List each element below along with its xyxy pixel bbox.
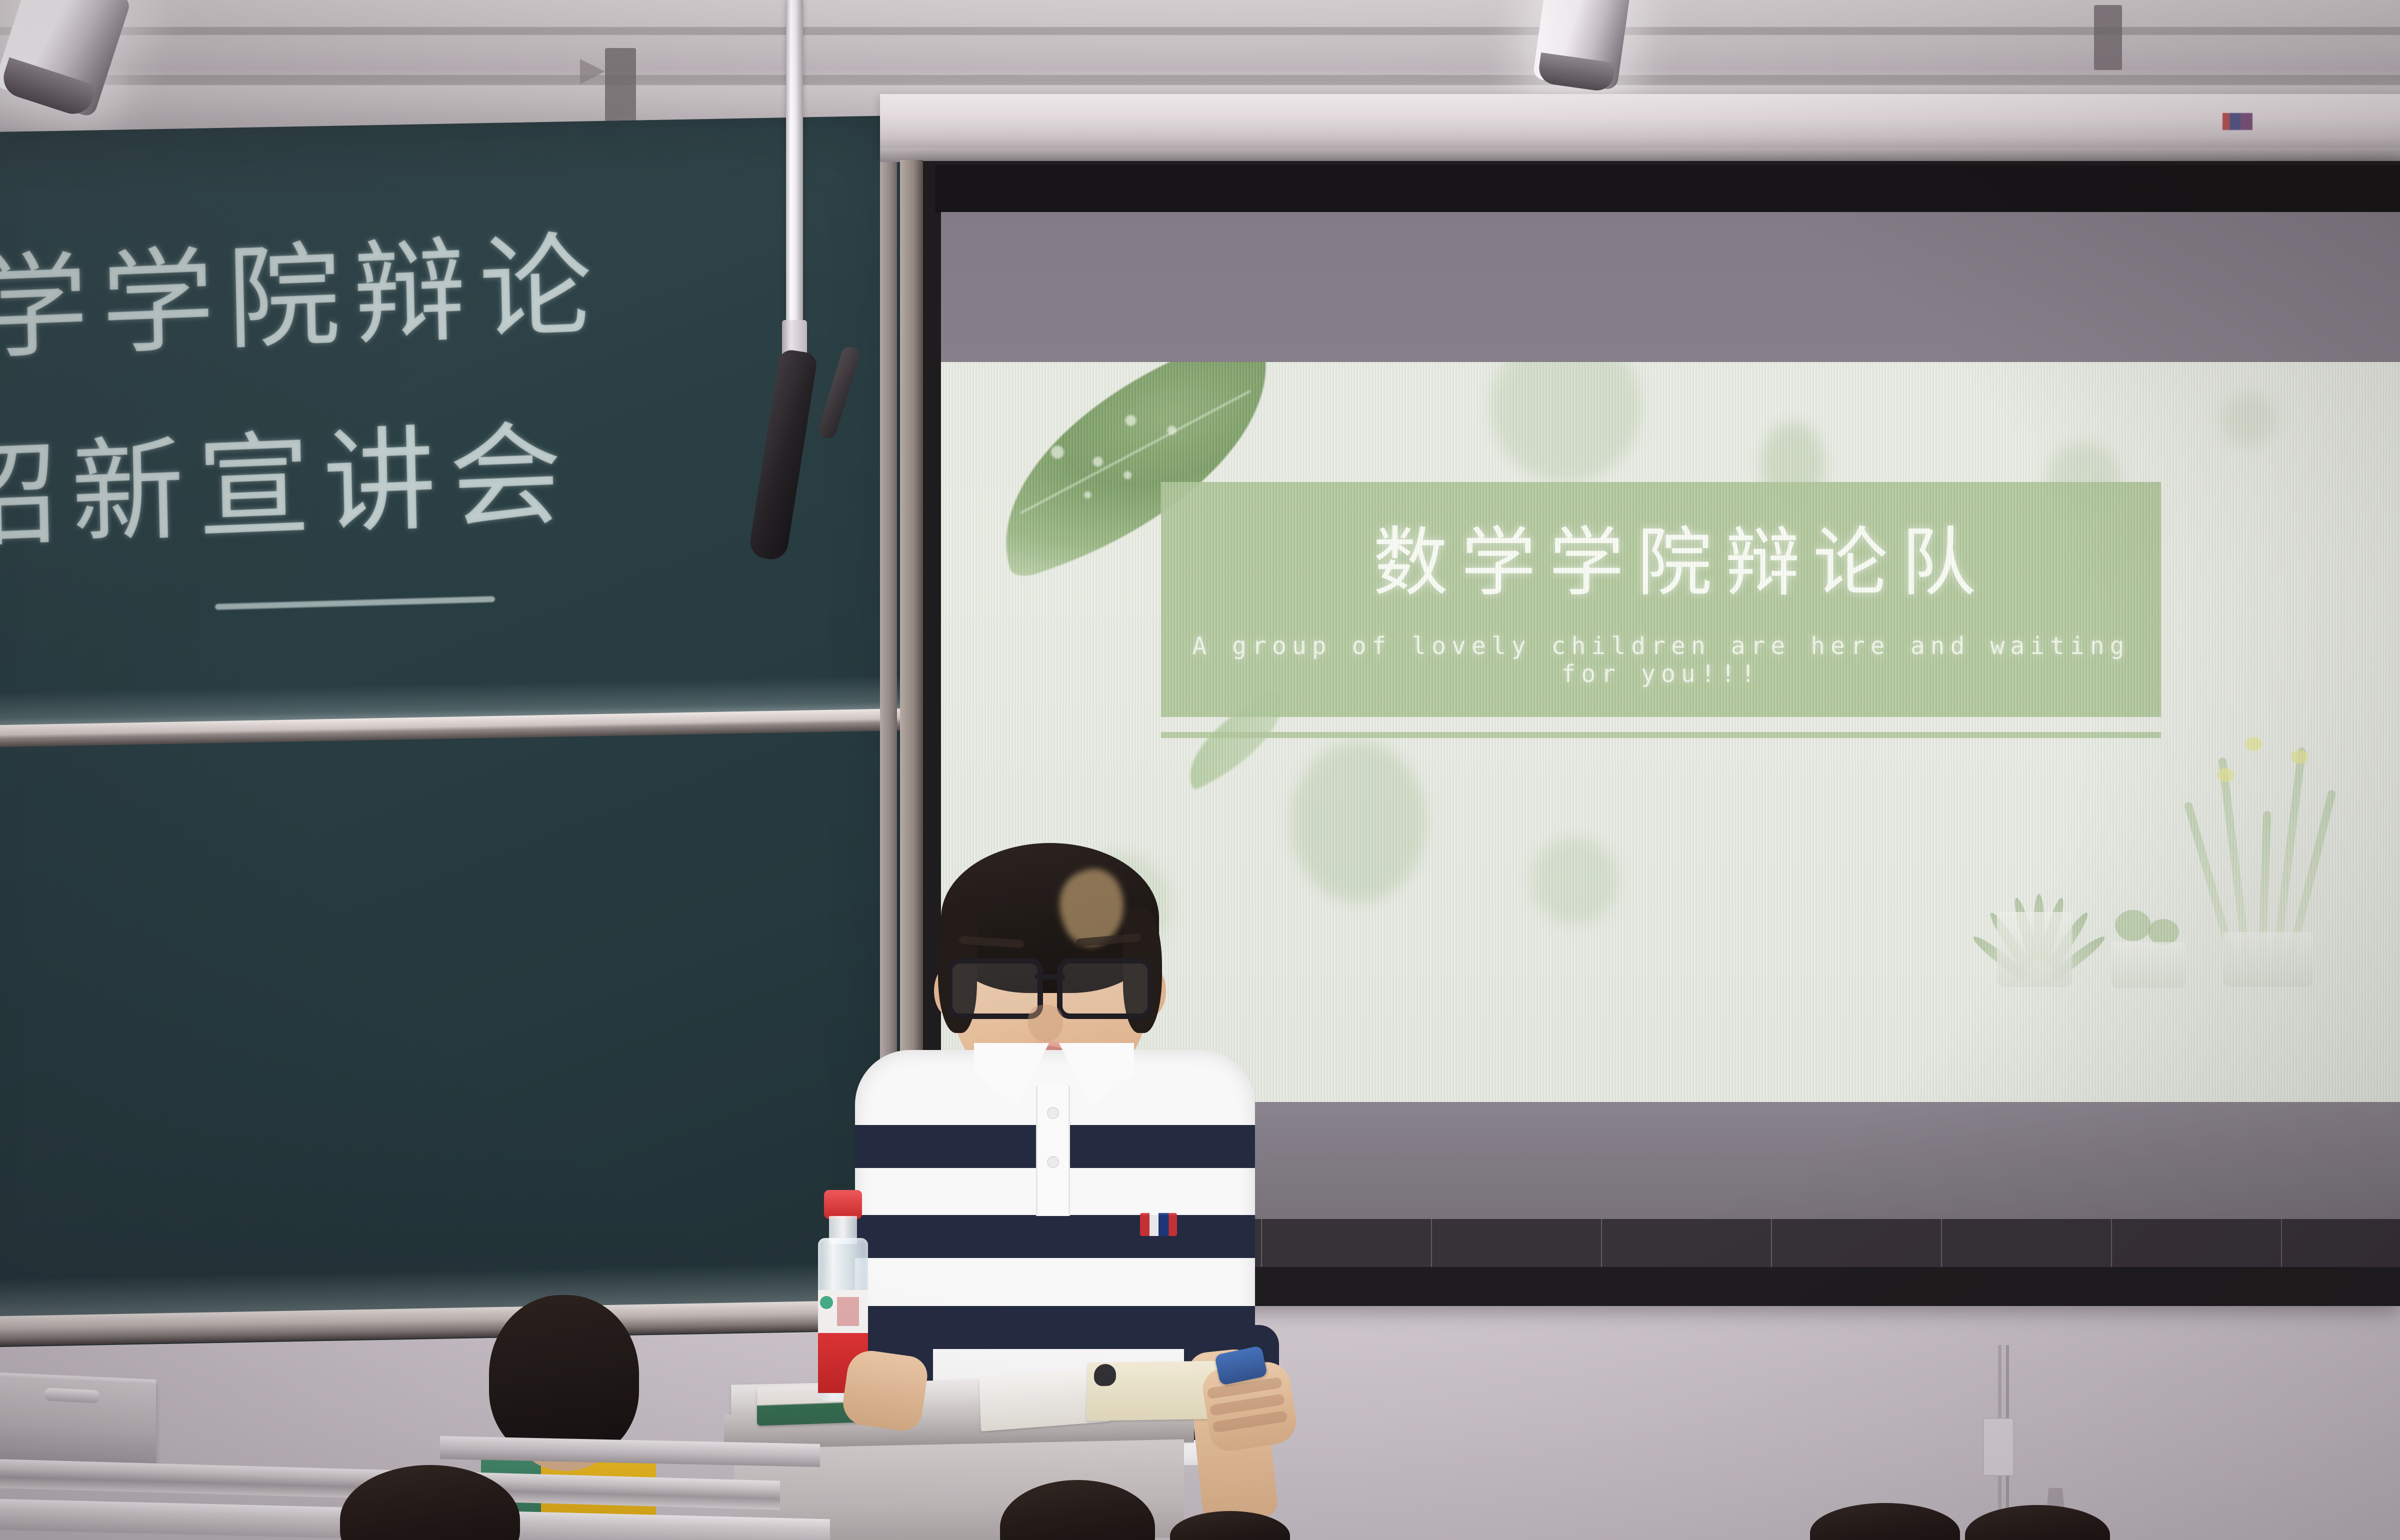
seated-student	[458, 1295, 654, 1495]
potted-grass-icon	[2206, 732, 2336, 987]
bokeh-circle	[1531, 837, 1618, 924]
fluorescent-light-icon	[1532, 0, 1632, 90]
bokeh-circle	[2221, 392, 2276, 447]
shirt-button	[1047, 1107, 1059, 1119]
slide-title: 数学学院辩论队	[1221, 502, 2141, 610]
brand-logo-icon	[1140, 1213, 1177, 1236]
bokeh-circle	[1491, 362, 1641, 482]
chalkboard-text-line-1: 学学院辩论	[0, 194, 606, 381]
projector-screen-top-border	[935, 165, 2400, 213]
chalkboard-text-line-2: 招新宣讲会	[0, 383, 576, 570]
brand-logo-icon	[2222, 113, 2252, 130]
desk-handle	[44, 1387, 100, 1403]
projector-screen-housing-lip	[880, 148, 2400, 162]
classroom-photo: 学学院辩论 招新宣讲会	[0, 0, 2400, 1540]
bottle-cap-icon	[824, 1190, 862, 1219]
slide-subtitle: A group of lovely children are here and …	[1161, 632, 2161, 688]
shirt-placket	[1036, 1086, 1070, 1216]
hand	[840, 1348, 929, 1433]
glasses-icon	[944, 958, 1156, 1012]
student-hair	[489, 1295, 639, 1460]
bokeh-circle	[1291, 742, 1426, 902]
nose	[1028, 1005, 1063, 1042]
shirt-button	[1047, 1156, 1059, 1168]
potted-cacti-icon	[2106, 902, 2196, 988]
potted-succulent-icon	[1971, 832, 2096, 987]
projector-screen-housing	[880, 94, 2400, 153]
slide-band-underline	[1161, 732, 2161, 738]
open-notebook-icon[interactable]	[980, 1356, 1230, 1431]
pen-icon[interactable]	[1094, 1363, 1116, 1386]
ceiling-beam	[0, 27, 2400, 35]
wall-switch-box[interactable]	[1983, 1418, 2014, 1476]
letterbox-band-top	[941, 212, 2400, 362]
ceiling-beam	[0, 75, 2400, 85]
slide-title-band: 数学学院辩论队 A group of lovely children are h…	[1161, 482, 2161, 717]
ceiling-mount-block	[605, 48, 636, 123]
ceiling-mount-block	[2094, 5, 2122, 70]
